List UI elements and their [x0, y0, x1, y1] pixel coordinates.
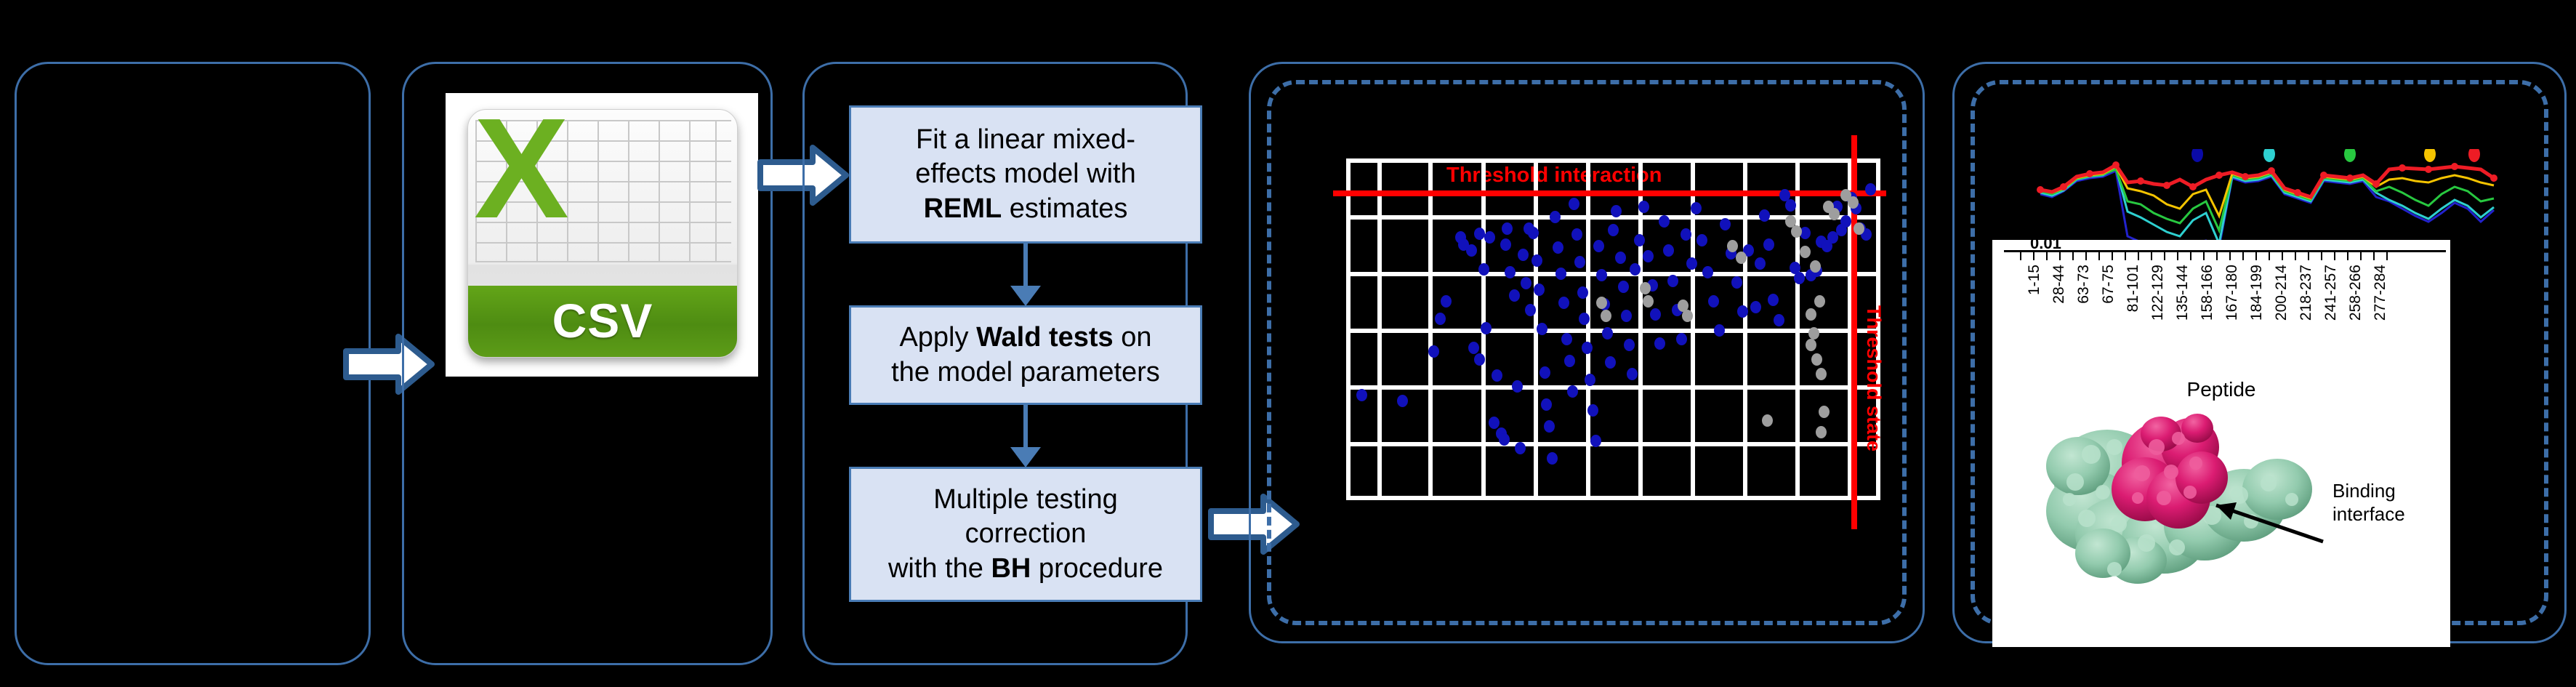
peptide-uptake-line-chart — [2032, 149, 2544, 247]
peptide-tick-label: 135-144 — [2174, 265, 2191, 321]
step-fit-model-text: Fit a linear mixed- effects model with R… — [915, 123, 1135, 225]
step2-pre: Apply — [899, 322, 976, 353]
peptide-tick-label: 258-266 — [2347, 265, 2364, 321]
peptide-tick-label: 1-15 — [2026, 265, 2043, 295]
peptide-tick-label: 218-237 — [2298, 265, 2315, 321]
step-fit-model-box[interactable]: Fit a linear mixed- effects model with R… — [849, 105, 1202, 244]
connector-step1-step2 — [1023, 244, 1028, 289]
peptide-tick-label: 63-73 — [2075, 265, 2093, 304]
peptide-axis-line — [2004, 250, 2446, 252]
peptide-tick-label: 200-214 — [2273, 265, 2290, 321]
step3-line3-post: procedure — [1031, 553, 1163, 584]
connector-arrowhead-2 — [1010, 447, 1041, 467]
threshold-interaction-line — [1333, 190, 1886, 196]
peptide-structure-card: 1-15 28-44 63-73 67-75 81-101 122-129 13… — [1992, 240, 2450, 647]
step1-line1: Fit a linear mixed- — [916, 124, 1135, 155]
excel-x-logo: X — [474, 114, 583, 230]
step3-line1: Multiple testing — [933, 484, 1117, 515]
step1-line2: effects model with — [915, 158, 1135, 189]
legend-dot-navy — [2191, 149, 2203, 162]
peptide-tick-label: 167-180 — [2223, 265, 2241, 321]
peptide-tick-label: 277-284 — [2372, 265, 2389, 321]
csv-file-icon: X CSV — [446, 93, 758, 377]
step-wald-tests-text: Apply Wald tests on the model parameters — [891, 321, 1160, 389]
step2-line2: the model parameters — [891, 357, 1160, 387]
input-panel — [15, 62, 371, 665]
step2-post: on — [1114, 322, 1152, 353]
peptide-tick-label: 158-166 — [2199, 265, 2216, 321]
y-axis-tick-label: 0.01 — [2030, 234, 2061, 253]
threshold-state-label: Threshold state — [1862, 305, 1885, 451]
binding-label-line1: Binding — [2333, 480, 2396, 502]
peptide-tick-label: 67-75 — [2100, 265, 2117, 304]
peptide-tick-label: 122-129 — [2149, 265, 2167, 321]
legend-dot-cyan — [2263, 149, 2275, 162]
step1-reml: REML — [924, 193, 1002, 224]
protein-structure-icon — [2021, 396, 2334, 607]
binding-label-line2: interface — [2333, 503, 2405, 525]
peptide-tick-label: 81-101 — [2125, 265, 2142, 312]
legend-dot-red — [2468, 149, 2480, 162]
peptide-tick-label: 184-199 — [2248, 265, 2266, 321]
scatter-plot — [1346, 158, 1880, 500]
peptide-tick-label: 241-257 — [2322, 265, 2340, 321]
step3-line3-pre: with the — [888, 553, 991, 584]
step3-line2: correction — [965, 518, 1087, 549]
peptide-tick-label: 28-44 — [2050, 265, 2068, 304]
legend-dot-green — [2344, 149, 2356, 162]
connector-arrowhead-1 — [1010, 286, 1041, 306]
csv-label: CSV — [468, 286, 737, 357]
workflow-diagram: X CSV Fit a linear mixed- effects model … — [0, 0, 2576, 687]
step3-bh: BH — [991, 553, 1031, 584]
step-wald-tests-box[interactable]: Apply Wald tests on the model parameters — [849, 305, 1202, 405]
connector-step2-step3 — [1023, 405, 1028, 450]
step2-wald: Wald tests — [976, 322, 1114, 353]
step-multiple-testing-text: Multiple testing correction with the BH … — [888, 483, 1163, 585]
binding-interface-label: Binding interface — [2333, 480, 2434, 526]
legend-dot-yellow — [2424, 149, 2436, 162]
step-multiple-testing-box[interactable]: Multiple testing correction with the BH … — [849, 467, 1202, 602]
step1-line3-rest: estimates — [1002, 193, 1127, 224]
